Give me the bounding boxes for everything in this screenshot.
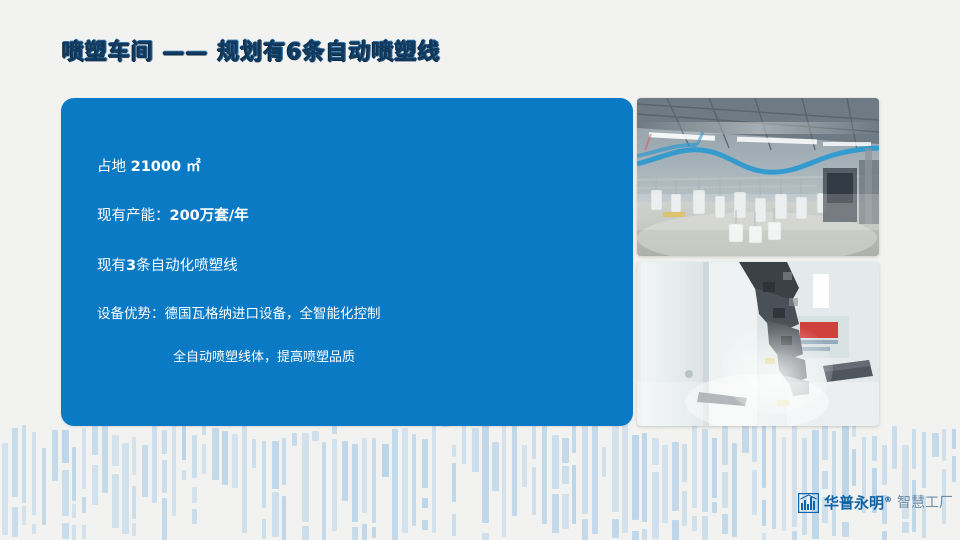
decor-bar — [522, 445, 527, 487]
spray-photo-graphic — [637, 262, 879, 426]
lines-suffix: 条自动化喷塑线 — [136, 258, 238, 274]
decor-bar — [892, 426, 897, 469]
decor-bar — [242, 425, 247, 533]
decor-bar — [372, 438, 376, 523]
decor-bar — [332, 439, 337, 531]
decor-bar — [232, 434, 238, 488]
decor-bar — [722, 514, 728, 534]
decor-bar — [722, 472, 728, 508]
decor-bar — [262, 519, 266, 539]
page-title: 喷塑车间 —— 规划有6条自动喷塑线 — [62, 34, 441, 66]
decor-bar — [312, 431, 319, 441]
decor-bar — [152, 420, 157, 503]
decor-bar — [762, 416, 766, 488]
decor-bar — [202, 425, 206, 435]
decor-bar — [472, 428, 479, 472]
decor-bar — [672, 442, 679, 511]
area-value: 21000 ㎡ — [131, 159, 201, 175]
brand-name: 华普永明® — [824, 496, 892, 511]
decor-bar — [132, 486, 136, 519]
decor-bar — [782, 437, 786, 531]
decor-bar — [82, 525, 86, 539]
decor-bar — [632, 531, 639, 540]
barcode-decoration — [0, 415, 960, 540]
panel-line-area: 占地 21000 ㎡ — [97, 155, 201, 176]
decor-bar — [192, 509, 197, 524]
decor-bar — [772, 423, 776, 529]
decor-bar — [172, 422, 176, 516]
decor-bar — [412, 434, 416, 526]
decor-bar — [822, 471, 828, 489]
decor-bar — [642, 529, 647, 540]
decor-bar — [852, 449, 856, 486]
decor-bar — [492, 442, 499, 491]
decor-bar — [62, 470, 69, 516]
decor-bar — [902, 522, 909, 533]
decor-bar — [252, 439, 256, 468]
decor-bar — [612, 422, 619, 512]
decor-bar — [192, 487, 197, 503]
decor-bar — [72, 525, 76, 540]
decor-bar — [262, 441, 266, 508]
decor-bar — [362, 438, 367, 513]
decor-bar — [552, 435, 559, 489]
decor-bar — [12, 428, 18, 497]
decor-bar — [762, 500, 766, 526]
decor-bar — [392, 429, 398, 540]
decor-bar — [582, 519, 588, 540]
decor-bar — [352, 444, 358, 522]
decor-bar — [692, 423, 697, 508]
decor-bar — [562, 466, 569, 484]
decor-bar — [282, 438, 286, 485]
panel-line-quality: 全自动喷塑线体，提高喷塑品质 — [173, 346, 355, 365]
decor-bar — [912, 429, 916, 469]
decor-bar — [62, 523, 69, 539]
decor-bar — [662, 445, 668, 523]
workshop-photo-graphic — [637, 98, 879, 256]
decor-bar — [402, 428, 408, 533]
decor-bar — [352, 527, 358, 540]
decor-bar — [92, 425, 98, 455]
decor-bar — [282, 496, 286, 540]
decor-bar — [32, 432, 36, 515]
decor-bar — [222, 431, 228, 485]
decor-bar — [422, 439, 428, 488]
decor-bar — [12, 507, 18, 537]
info-panel: 占地 21000 ㎡ 现有产能：200万套/年 现有3条自动化喷塑线 设备优势：… — [61, 98, 633, 426]
decor-bar — [642, 433, 647, 522]
decor-bar — [302, 526, 309, 540]
decor-bar — [112, 435, 119, 466]
decor-bar — [932, 433, 939, 457]
brand-text: 华普永明 — [824, 494, 884, 512]
decor-bar — [832, 431, 836, 536]
decor-bar — [342, 441, 348, 501]
decor-bar — [212, 428, 219, 480]
decor-bar — [502, 417, 506, 537]
decor-bar — [102, 422, 108, 493]
capacity-label: 现有产能： — [97, 208, 170, 224]
sub-brand-name: 智慧工厂 — [897, 496, 953, 510]
capacity-value: 200万套/年 — [170, 208, 249, 224]
decor-bar — [762, 533, 766, 540]
decor-bar — [92, 465, 98, 505]
decor-bar — [682, 491, 687, 526]
decor-bar — [72, 447, 76, 501]
decor-bar — [732, 443, 737, 537]
decor-bar — [432, 424, 436, 533]
decor-bar — [512, 421, 517, 516]
decor-bar — [792, 531, 797, 540]
decor-bar — [82, 428, 86, 489]
lines-prefix: 现有 — [97, 258, 126, 274]
decor-bar — [802, 438, 807, 535]
decor-bar — [942, 429, 946, 461]
decor-bar — [452, 445, 456, 457]
decor-bar — [952, 456, 956, 482]
panel-line-production-lines: 现有3条自动化喷塑线 — [97, 254, 238, 275]
building-logo-icon — [798, 493, 819, 513]
decor-bar — [452, 463, 456, 502]
decor-bar — [672, 520, 679, 540]
advantage-label: 设备优势： — [97, 306, 165, 322]
decor-bar — [562, 494, 569, 529]
decor-bar — [82, 497, 86, 513]
decor-bar — [752, 421, 757, 462]
decor-bar — [712, 438, 717, 498]
decor-bar — [572, 465, 576, 524]
decor-bar — [422, 520, 428, 530]
panel-line-equipment-advantage: 设备优势：德国瓦格纳进口设备，全智能化控制 — [97, 302, 381, 322]
spray-photo — [637, 262, 879, 426]
decor-bar — [542, 420, 547, 524]
decor-bar — [952, 429, 956, 449]
decor-bar — [162, 498, 167, 540]
decor-bar — [302, 433, 309, 522]
decor-bar — [612, 519, 619, 538]
lines-count: 3 — [126, 258, 136, 274]
decor-bar — [72, 504, 76, 518]
decor-bar — [132, 437, 136, 475]
decor-bar — [882, 445, 887, 485]
decor-bar — [652, 472, 659, 539]
decor-bar — [722, 426, 728, 465]
decor-bar — [62, 430, 69, 463]
decor-bar — [682, 444, 687, 482]
decor-bar — [142, 445, 148, 497]
decor-bar — [822, 425, 828, 460]
decor-bar — [182, 470, 186, 480]
decor-bar — [382, 444, 389, 477]
advantage-text: 德国瓦格纳进口设备，全智能化控制 — [165, 306, 381, 322]
decor-bar — [362, 524, 367, 540]
decor-bar — [552, 494, 559, 533]
decor-bar — [132, 523, 136, 536]
decor-bar — [22, 425, 26, 503]
panel-line-capacity: 现有产能：200万套/年 — [97, 204, 249, 225]
decor-bar — [322, 442, 326, 540]
workshop-photo — [637, 98, 879, 256]
decor-bar — [652, 438, 659, 465]
area-label: 占地 — [97, 159, 131, 175]
brand-registered-mark: ® — [884, 495, 892, 504]
decor-bar — [622, 418, 628, 533]
decor-bar — [532, 421, 536, 459]
decor-bar — [292, 433, 297, 446]
decor-bar — [22, 506, 26, 525]
decor-bar — [712, 502, 717, 513]
decor-bar — [702, 516, 708, 540]
decor-bar — [372, 527, 376, 538]
decor-bar — [162, 460, 167, 493]
decor-bar — [882, 531, 887, 540]
decor-bar — [482, 533, 489, 540]
decor-bar — [632, 435, 639, 520]
decor-bar — [42, 448, 46, 525]
decor-bar — [792, 423, 797, 527]
footer-logo: 华普永明® 智慧工厂 — [798, 491, 953, 515]
presentation-slide: 喷塑车间 —— 规划有6条自动喷塑线 占地 21000 ㎡ 现有产能：200万套… — [0, 0, 960, 540]
decor-bar — [592, 420, 598, 534]
decor-bar — [582, 421, 588, 514]
decor-bar — [112, 474, 119, 528]
decor-bar — [532, 467, 536, 515]
decor-bar — [842, 522, 849, 537]
decor-bar — [702, 429, 708, 512]
decor-bar — [2, 443, 8, 535]
decor-bar — [422, 498, 428, 508]
decor-bar — [202, 444, 206, 474]
decor-bar — [692, 516, 697, 531]
decor-bar — [562, 438, 569, 463]
decor-bar — [272, 492, 279, 537]
decor-bar — [452, 514, 456, 536]
decor-bar — [122, 443, 129, 534]
decor-bar — [32, 524, 36, 534]
decor-bar — [182, 420, 186, 460]
decor-bar — [602, 447, 606, 477]
decor-bar — [922, 432, 926, 488]
decor-bar — [872, 436, 877, 461]
decor-bar — [482, 425, 489, 523]
decor-bar — [192, 435, 197, 478]
decor-bar — [812, 430, 819, 539]
decor-bar — [162, 430, 167, 454]
decor-bar — [52, 430, 58, 481]
decor-bar — [272, 441, 279, 489]
decor-bar — [752, 470, 757, 515]
